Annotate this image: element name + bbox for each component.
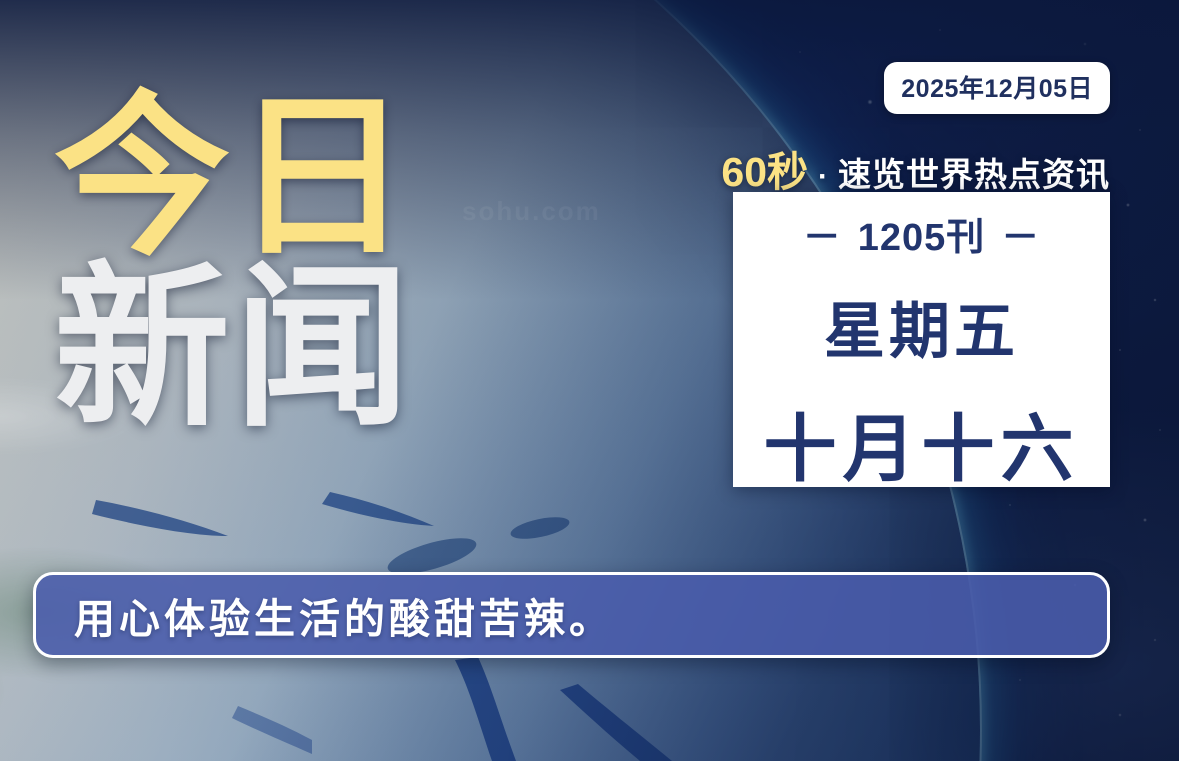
brand-title-line-2: 新闻 (54, 267, 414, 432)
brand-title: 今日 新闻 (54, 96, 414, 433)
tagline-duration: 60秒 (721, 138, 808, 198)
quote-bar: 用心体验生活的酸甜苦辣。 (33, 572, 1110, 658)
lunar-date-label: 十月十六 (764, 390, 1080, 496)
tagline-separator: · (814, 160, 832, 194)
tagline-description: 速览世界热点资讯 (838, 148, 1110, 196)
issue-dash-right: － (1001, 206, 1040, 261)
news-poster: sohu.com 今日 新闻 2025年12月05日 60秒 · 速览世界热点资… (0, 0, 1179, 761)
issue-dash-left: － (803, 206, 842, 261)
issue-number: 1205刊 (858, 206, 986, 261)
quote-text: 用心体验生活的酸甜苦辣。 (74, 585, 614, 645)
content-layer: 今日 新闻 2025年12月05日 60秒 · 速览世界热点资讯 － 1205刊… (0, 0, 1179, 761)
brand-title-line-1: 今日 (54, 96, 414, 261)
weekday-label: 星期五 (824, 281, 1019, 370)
date-badge: 2025年12月05日 (884, 62, 1110, 114)
issue-line: － 1205刊 － (803, 206, 1041, 261)
tagline: 60秒 · 速览世界热点资讯 (721, 138, 1110, 198)
date-info-card: － 1205刊 － 星期五 十月十六 (733, 192, 1110, 487)
